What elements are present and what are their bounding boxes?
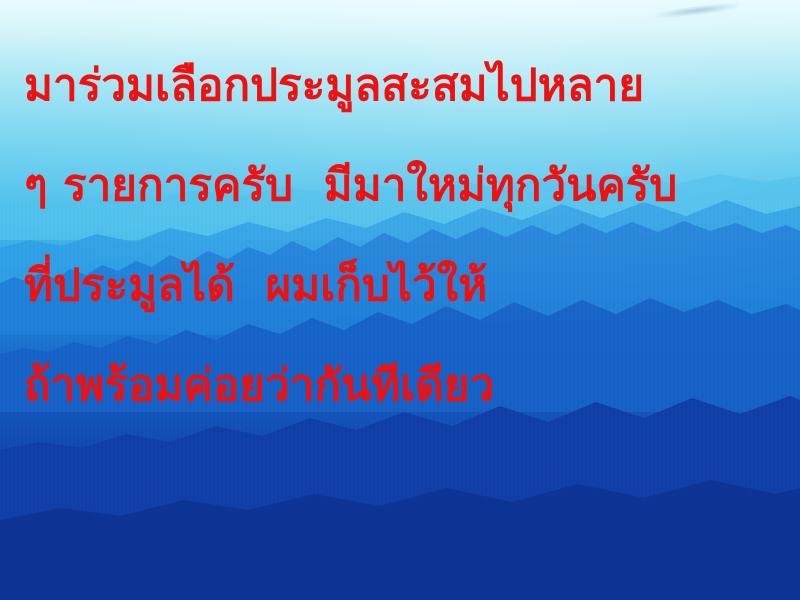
foreground-forest-slope [0,330,800,600]
screenshot-canvas: มาร่วมเลือกประมูลสะสมไปหลาย ๆ รายการครับ… [0,0,800,600]
